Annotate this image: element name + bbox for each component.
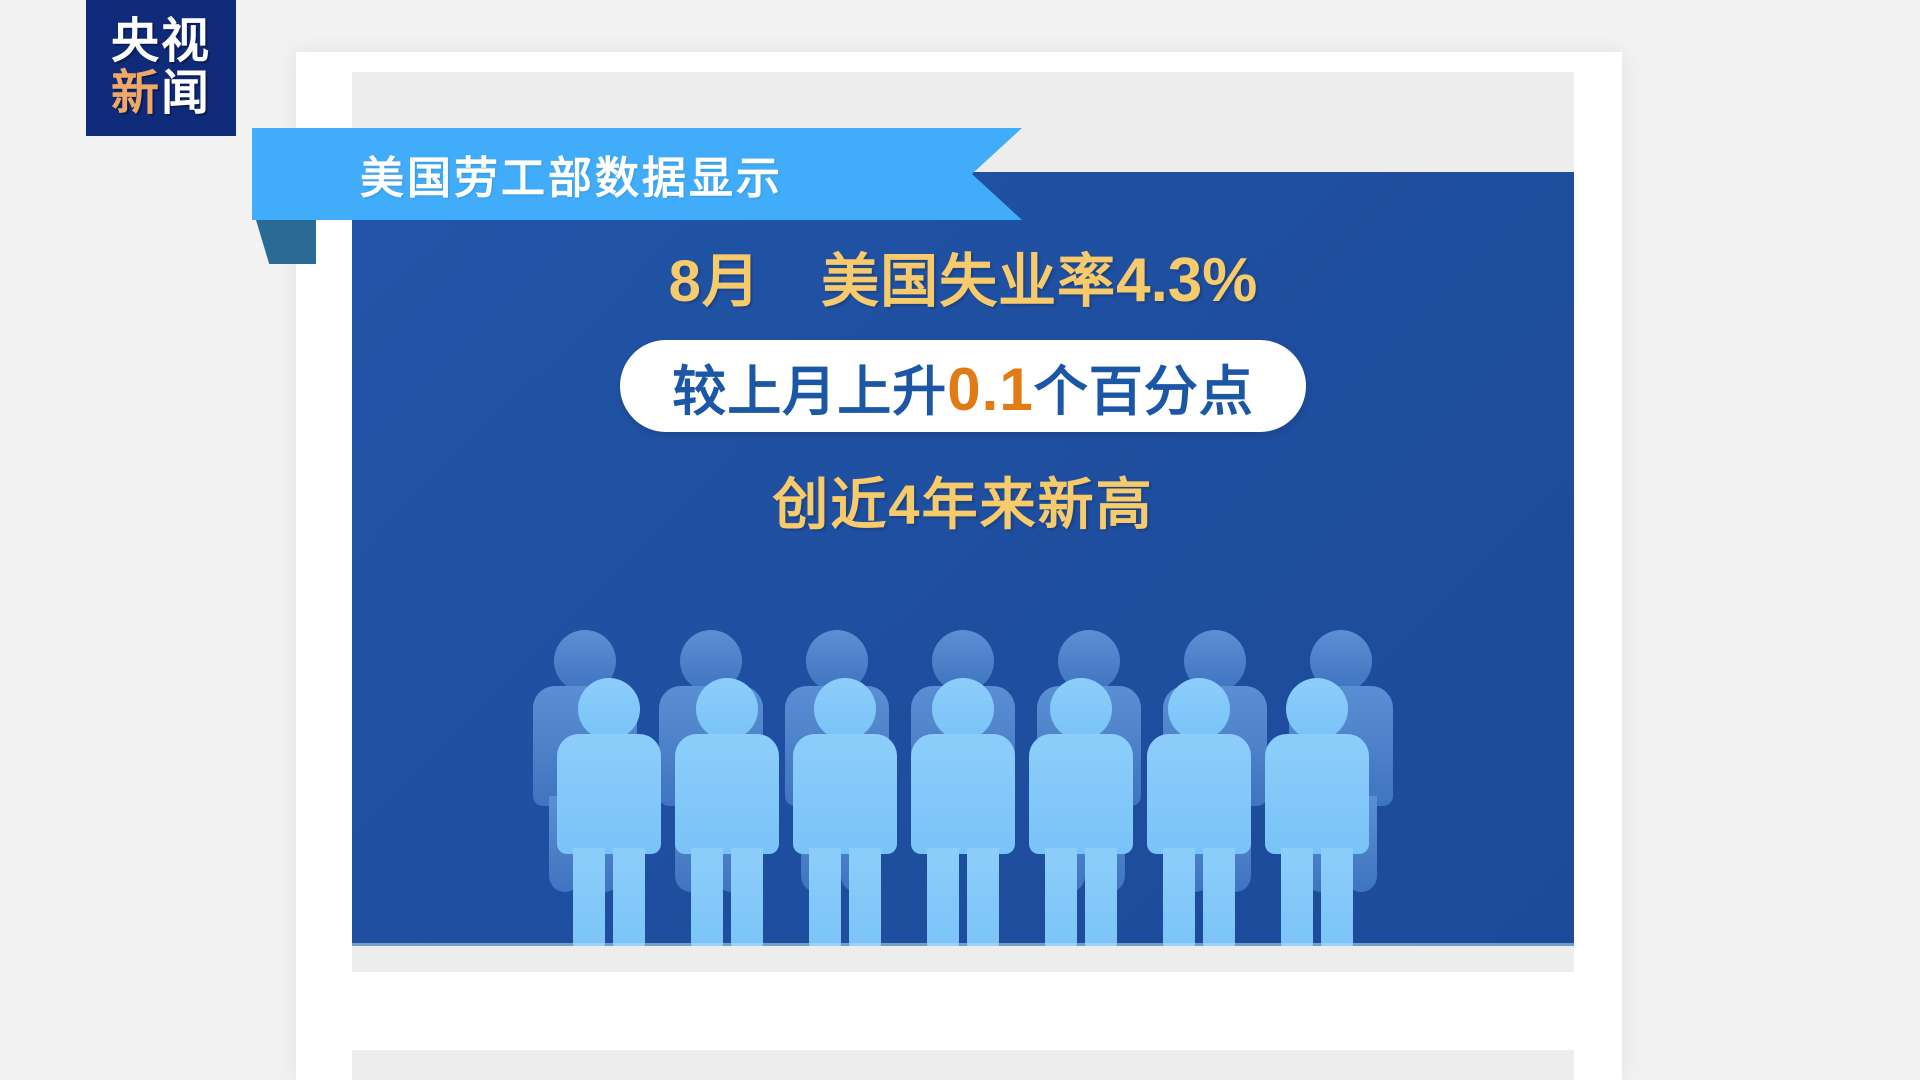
person-legs-icon [927,848,999,946]
person-body-icon [1029,734,1133,854]
next-image-backing-plate [352,1050,1574,1080]
person-body-icon [911,734,1015,854]
person-icon [1029,678,1133,946]
person-body-icon [793,734,897,854]
people-row-front [352,678,1574,946]
logo-char-wen: 闻 [161,67,211,120]
person-body-icon [1265,734,1369,854]
banner: 美国劳工部数据显示 [252,128,1022,220]
pill-text: 较上月上升0.1个百分点 [672,347,1253,426]
person-icon [1265,678,1369,946]
headline-subject: 美国失业率 [821,249,1116,314]
person-legs-icon [1281,848,1353,946]
person-legs-icon [573,848,645,946]
logo-char-xin: 新 [111,67,161,120]
person-head-icon [1168,678,1230,740]
logo-line-cctv: 央视 [111,18,211,66]
person-icon [557,678,661,946]
headline-footnote: 创近4年来新高 [352,460,1574,541]
banner-fold-shadow [256,220,316,264]
person-head-icon [1286,678,1348,740]
person-legs-icon [691,848,763,946]
headline-value: 4.3% [1116,246,1257,315]
infographic-panel: 8月 美国失业率4.3% 较上月上升0.1个百分点 创近4年来新高 [352,172,1574,946]
people-pictogram [352,586,1574,946]
headline-pill: 较上月上升0.1个百分点 [620,340,1305,432]
person-body-icon [675,734,779,854]
pill-value: 0.1 [947,356,1033,423]
logo-line-news: 新闻 [111,70,211,118]
person-legs-icon [1045,848,1117,946]
person-legs-icon [809,848,881,946]
cctv-news-logo: 央视 新闻 [86,0,236,136]
banner-text: 美国劳工部数据显示 [360,142,783,206]
person-head-icon [814,678,876,740]
person-icon [793,678,897,946]
panel-baseline [352,943,1574,946]
headline-pill-wrapper: 较上月上升0.1个百分点 [352,340,1574,432]
person-legs-icon [1163,848,1235,946]
pill-prefix: 较上月上升 [672,362,947,422]
person-body-icon [557,734,661,854]
headline-line-1: 8月 美国失业率4.3% [352,234,1574,318]
person-icon [1147,678,1251,946]
person-head-icon [696,678,758,740]
headline-area: 8月 美国失业率4.3% 较上月上升0.1个百分点 创近4年来新高 [352,172,1574,541]
page-root: 8月 美国失业率4.3% 较上月上升0.1个百分点 创近4年来新高 [0,0,1920,1080]
pill-suffix: 个百分点 [1034,362,1254,422]
person-icon [911,678,1015,946]
person-head-icon [1050,678,1112,740]
person-head-icon [932,678,994,740]
person-icon [675,678,779,946]
person-head-icon [578,678,640,740]
banner-wrapper: 美国劳工部数据显示 [252,128,1022,220]
headline-month: 8月 [669,249,761,314]
person-body-icon [1147,734,1251,854]
